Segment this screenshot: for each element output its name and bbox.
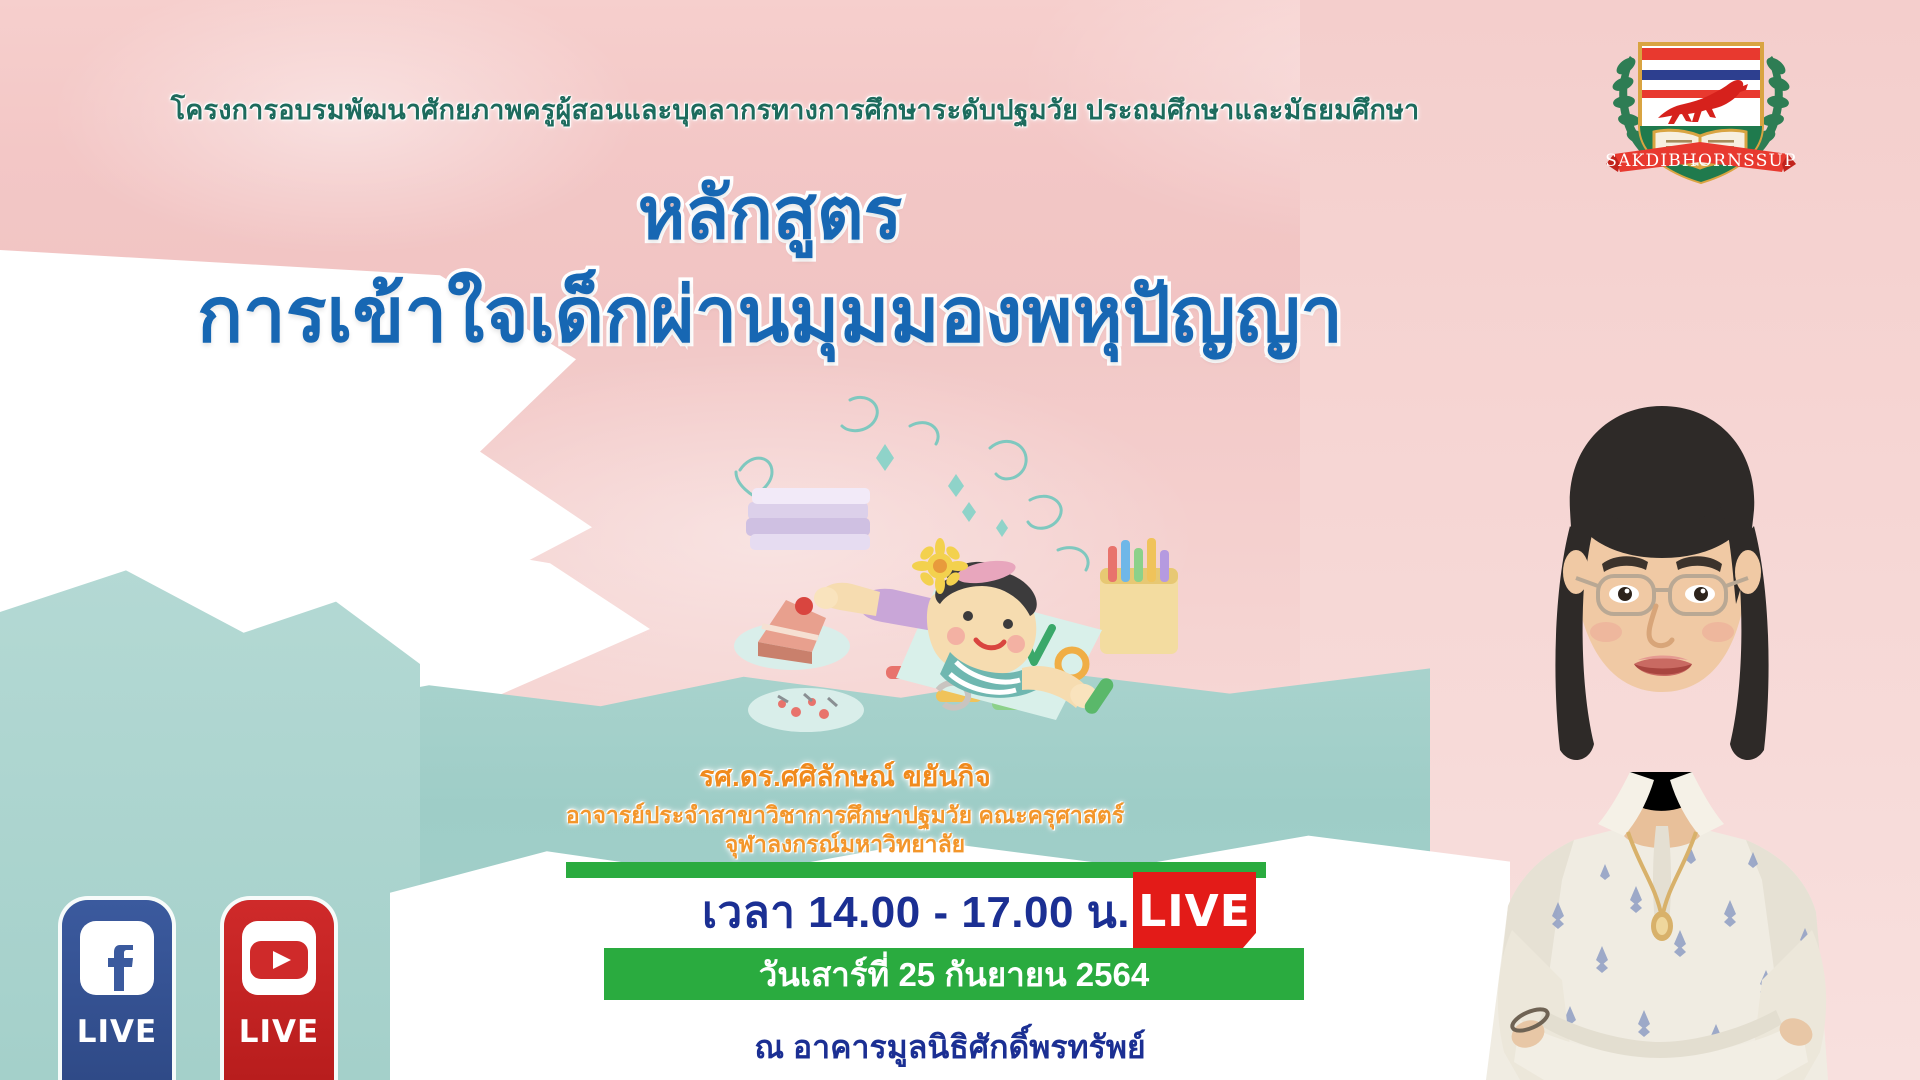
live-badge-label: LIVE [1138,886,1251,937]
program-header-text: โครงการอบรมพัฒนาศักยภาพครูผู้สอนและบุคลา… [0,88,1590,131]
speaker-portrait [1424,320,1874,1080]
schedule-date-bar: วันเสาร์ที่ 25 กันยายน 2564 [604,948,1304,1000]
schedule-venue: ณ อาคารมูลนิธิศักดิ์พรทรัพย์ [400,1022,1500,1073]
course-title: การเข้าใจเด็กผ่านมุมมองพหุปัญญา [0,255,1540,375]
facebook-live-badge[interactable]: LIVE [62,900,172,1080]
crest-name-text: SAKDIBHORNSSUP [1605,151,1796,171]
course-label: หลักสูตร [0,155,1540,270]
facebook-icon [75,916,159,1000]
facebook-live-label: LIVE [77,1014,157,1050]
speaker-role: อาจารย์ประจำสาขาวิชาการศึกษาปฐมวัย คณะคร… [250,801,1440,830]
speaker-organization: จุฬาลงกรณ์มหาวิทยาลัย [250,830,1440,859]
youtube-live-label: LIVE [239,1014,319,1050]
speaker-name: รศ.ดร.ศศิลักษณ์ ขยันกิจ [250,755,1440,799]
child-drawing-illustration [700,390,1260,750]
schedule-time: เวลา 14.00 - 17.00 น. [702,877,1130,947]
running-horse-crest-logo: SAKDIBHORNSSUP [1596,14,1806,199]
speaker-info: รศ.ดร.ศศิลักษณ์ ขยันกิจ อาจารย์ประจำสาขา… [250,755,1440,859]
youtube-live-badge[interactable]: LIVE [224,900,334,1080]
schedule-date: วันเสาร์ที่ 25 กันยายน 2564 [759,948,1149,1001]
youtube-icon [237,916,321,1000]
live-badge: LIVE [1133,872,1256,950]
event-banner: SAKDIBHORNSSUP โครงการอบรมพัฒนาศักยภาพคร… [0,0,1920,1080]
